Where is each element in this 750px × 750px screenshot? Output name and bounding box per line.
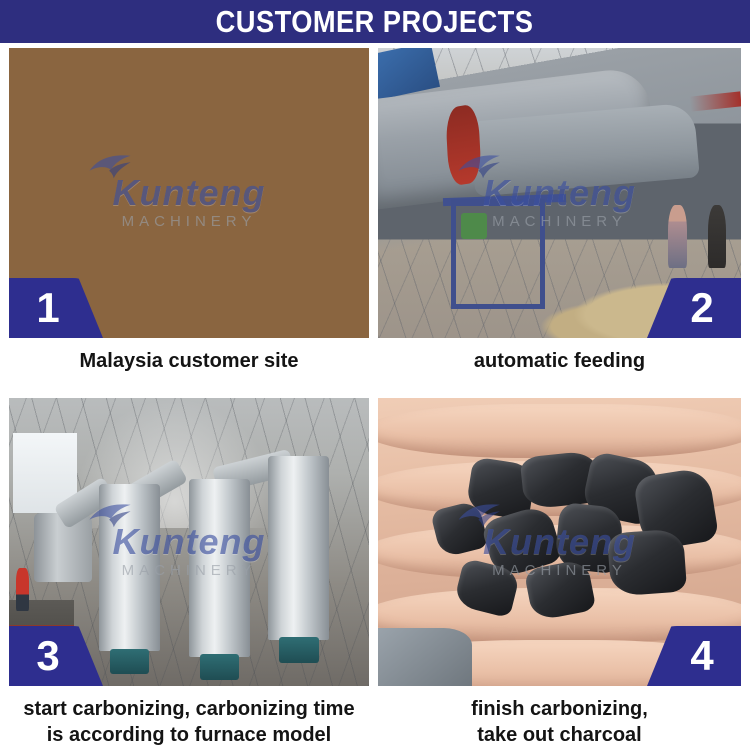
plastic-bag-shape — [378, 628, 472, 686]
page-title: CUSTOMER PROJECTS — [216, 6, 534, 37]
step-number-1: 1 — [36, 287, 59, 329]
step-number-3: 3 — [36, 635, 59, 677]
step-number-4: 4 — [690, 635, 713, 677]
worker-figure — [16, 568, 29, 611]
customer-projects-page: CUSTOMER PROJECTS Kunteng MACHINERY 1 — [0, 0, 750, 750]
caption-line: Malaysia customer site — [15, 349, 363, 375]
red-accent-shape — [445, 103, 481, 187]
green-motor-shape — [461, 213, 486, 239]
charcoal-piece — [607, 528, 687, 596]
project-photo-1: Kunteng MACHINERY 1 — [9, 48, 369, 338]
project-caption-4: finish carbonizing, take out charcoal — [378, 697, 741, 748]
red-strip-shape — [690, 92, 741, 112]
caption-line: is according to furnace model — [15, 723, 363, 749]
projects-grid: Kunteng MACHINERY 1 Malaysia customer si… — [0, 43, 750, 750]
project-photo-3: Kunteng MACHINERY 3 — [9, 398, 369, 686]
project-photo-4: Kunteng MACHINERY 4 — [378, 398, 741, 686]
worker-figure — [708, 205, 726, 269]
furnace-base-shape — [110, 649, 150, 675]
page-header-banner: CUSTOMER PROJECTS — [0, 0, 750, 43]
caption-line: automatic feeding — [384, 349, 735, 375]
project-card-4[interactable]: Kunteng MACHINERY 4 finish carbonizing, … — [375, 393, 750, 750]
project-card-3[interactable]: Kunteng MACHINERY 3 start carbonizing, c… — [0, 393, 375, 750]
caption-line: start carbonizing, carbonizing time — [15, 697, 363, 723]
step-number-2: 2 — [690, 287, 713, 329]
project-card-2[interactable]: Kunteng MACHINERY 2 automatic feeding — [375, 43, 750, 393]
furnace-body-shape — [268, 456, 329, 640]
project-photo-2: Kunteng MACHINERY 2 — [378, 48, 741, 338]
furnace-base-shape — [279, 637, 319, 663]
project-caption-3: start carbonizing, carbonizing time is a… — [9, 697, 369, 748]
charcoal-pile — [429, 450, 719, 634]
caption-line: take out charcoal — [384, 723, 735, 749]
project-caption-2: automatic feeding — [378, 349, 741, 375]
worker-figure — [668, 205, 686, 269]
furnace-base-shape — [200, 654, 240, 680]
project-card-1[interactable]: Kunteng MACHINERY 1 Malaysia customer si… — [0, 43, 375, 393]
caption-line: finish carbonizing, — [384, 697, 735, 723]
project-caption-1: Malaysia customer site — [9, 349, 369, 375]
furnace-body-shape — [99, 484, 160, 651]
furnace-body-shape — [189, 479, 250, 658]
